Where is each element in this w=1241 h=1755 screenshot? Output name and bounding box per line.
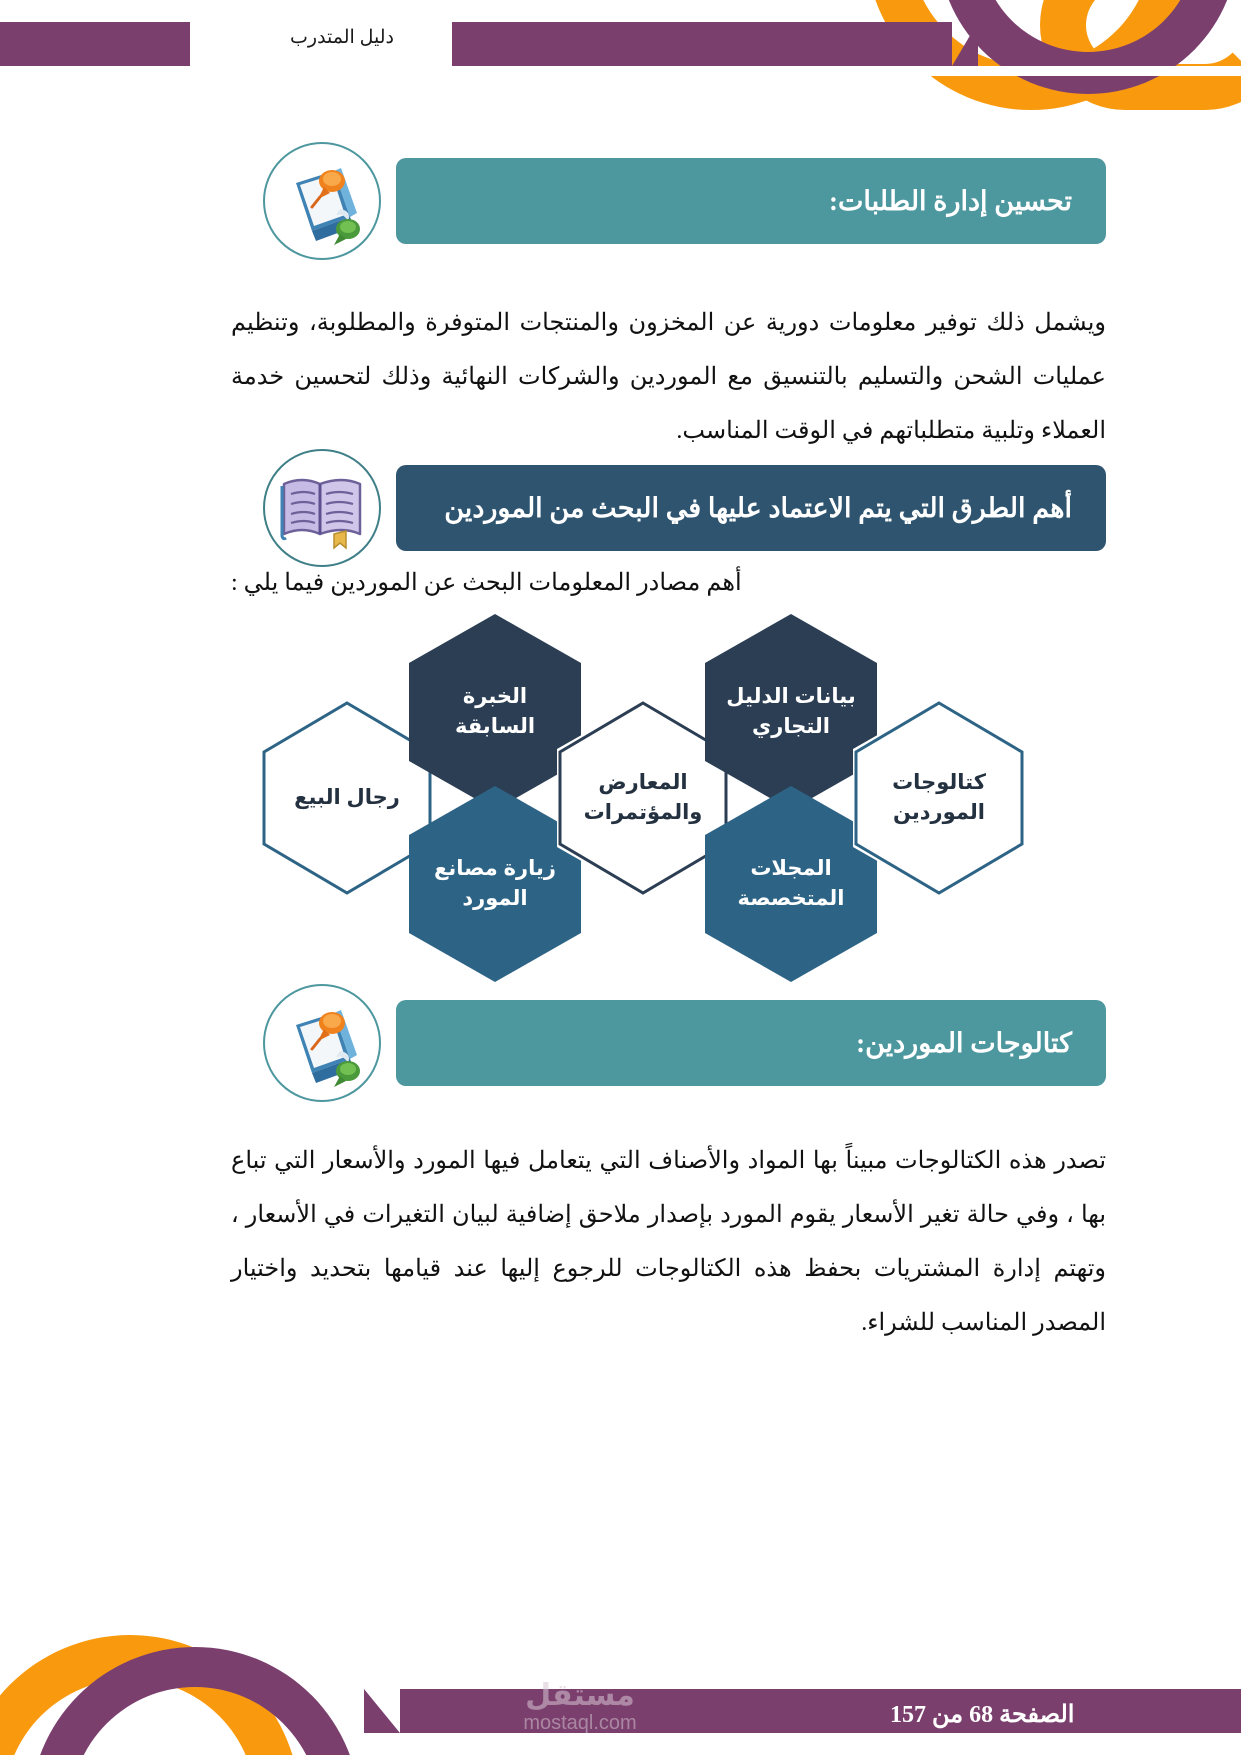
hex-cell-exhibitions-conferences: المعارض والمؤتمرات xyxy=(557,700,729,896)
section-banner-catalogs: كتالوجات الموردين: xyxy=(396,1000,1106,1086)
section-banner-catalogs-label: كتالوجات الموردين: xyxy=(856,1028,1072,1059)
header-title: دليل المتدرب xyxy=(252,26,432,49)
watermark-arabic-text: مستقل xyxy=(480,1681,680,1711)
section-banner-orders: تحسين إدارة الطلبات: xyxy=(396,158,1106,244)
hex-cell-previous-experience: الخبرة السابقة xyxy=(409,614,581,810)
header-purple-bar-left xyxy=(0,22,190,66)
header-purple-bar-right xyxy=(452,22,952,66)
page-header: دليل المتدرب xyxy=(0,0,1241,120)
hex-cell-sales: رجال البيع xyxy=(261,700,433,896)
hex-cell-supplier-catalogs: كتالوجات الموردين xyxy=(853,700,1025,896)
hex-label-trade-directory-data: بيانات الدليل التجاري xyxy=(705,682,877,742)
header-white-mask xyxy=(860,66,1241,76)
footer-purple-triangle xyxy=(364,1689,400,1733)
paragraph-catalogs: تصدر هذه الكتالوجات مبيناً بها المواد وا… xyxy=(231,1134,1106,1350)
section-banner-orders-label: تحسين إدارة الطلبات: xyxy=(829,186,1072,217)
hex-label-exhibitions-conferences: المعارض والمؤتمرات xyxy=(557,768,729,828)
open-book-icon xyxy=(263,449,381,567)
mostaql-watermark: مستقل mostaql.com xyxy=(480,1681,680,1735)
notepad-pushpin-icon xyxy=(263,984,381,1102)
methods-lead-text: أهم مصادر المعلومات البحث عن الموردين في… xyxy=(231,568,1106,597)
hex-label-supplier-catalogs: كتالوجات الموردين xyxy=(853,768,1025,828)
watermark-domain-text: mostaql.com xyxy=(480,1711,680,1735)
hex-cell-supplier-factory-visit: زيارة مصانع المورد xyxy=(409,786,581,982)
hex-label-sales: رجال البيع xyxy=(280,783,414,813)
page-footer: مستقل mostaql.com الصفحة 68 من 157 xyxy=(0,1575,1241,1755)
hex-diagram: رجال البيع الخبرة السابقة زيارة مصانع ال… xyxy=(241,608,1101,978)
hex-label-previous-experience: الخبرة السابقة xyxy=(409,682,581,742)
hex-label-supplier-factory-visit: زيارة مصانع المورد xyxy=(409,854,581,914)
hex-cell-trade-directory-data: بيانات الدليل التجاري xyxy=(705,614,877,810)
section-banner-methods: أهم الطرق التي يتم الاعتماد عليها في الب… xyxy=(396,465,1106,551)
hex-label-specialized-magazines: المجلات المتخصصة xyxy=(705,854,877,914)
hex-cell-specialized-magazines: المجلات المتخصصة xyxy=(705,786,877,982)
section-banner-methods-label: أهم الطرق التي يتم الاعتماد عليها في الب… xyxy=(444,493,1072,524)
page-number: الصفحة 68 من 157 xyxy=(890,1700,1210,1729)
notepad-pushpin-icon xyxy=(263,142,381,260)
paragraph-orders: ويشمل ذلك توفير معلومات دورية عن المخزون… xyxy=(231,296,1106,458)
